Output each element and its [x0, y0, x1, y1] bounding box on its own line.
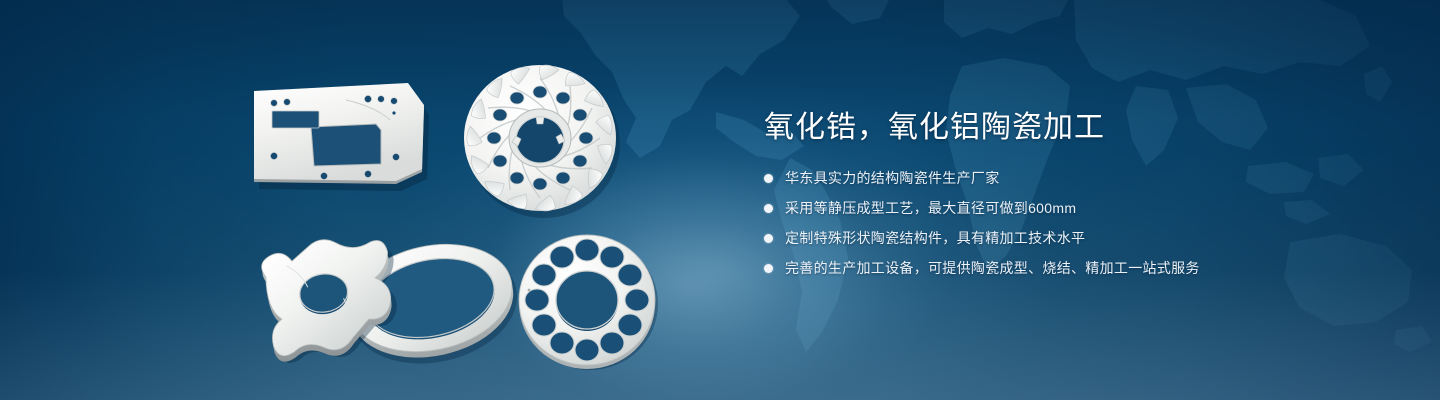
feature-text: 采用等静压成型工艺，最大直径可做到600mm: [785, 196, 1076, 220]
banner-copy: 氧化锆，氧化铝陶瓷加工 华东具实力的结构陶瓷件生产厂家 采用等静压成型工艺，最大…: [764, 108, 1404, 286]
feature-text: 华东具实力的结构陶瓷件生产厂家: [785, 166, 1000, 190]
feature-list: 华东具实力的结构陶瓷件生产厂家 采用等静压成型工艺，最大直径可做到600mm 定…: [764, 166, 1404, 280]
list-item: 完善的生产加工设备，可提供陶瓷成型、烧结、精加工一站式服务: [764, 256, 1404, 280]
feature-text: 定制特殊形状陶瓷结构件，具有精加工技术水平: [785, 226, 1085, 250]
banner-headline: 氧化锆，氧化铝陶瓷加工: [764, 108, 1404, 148]
product-photo-group: [0, 0, 720, 400]
ceramic-plate-with-cutouts: [248, 80, 434, 192]
bullet-dot-icon: [764, 174, 773, 183]
bullet-dot-icon: [764, 234, 773, 243]
ceramic-perforated-disc: [512, 228, 664, 374]
ceramic-cross-plate: [252, 232, 412, 370]
feature-text: 完善的生产加工设备，可提供陶瓷成型、烧结、精加工一站式服务: [785, 256, 1200, 280]
bullet-dot-icon: [764, 204, 773, 213]
list-item: 采用等静压成型工艺，最大直径可做到600mm: [764, 196, 1404, 220]
list-item: 华东具实力的结构陶瓷件生产厂家: [764, 166, 1404, 190]
bullet-dot-icon: [764, 264, 773, 273]
list-item: 定制特殊形状陶瓷结构件，具有精加工技术水平: [764, 226, 1404, 250]
ceramic-impeller-rotor: [452, 48, 632, 228]
hero-banner: 氧化锆，氧化铝陶瓷加工 华东具实力的结构陶瓷件生产厂家 采用等静压成型工艺，最大…: [0, 0, 1440, 400]
